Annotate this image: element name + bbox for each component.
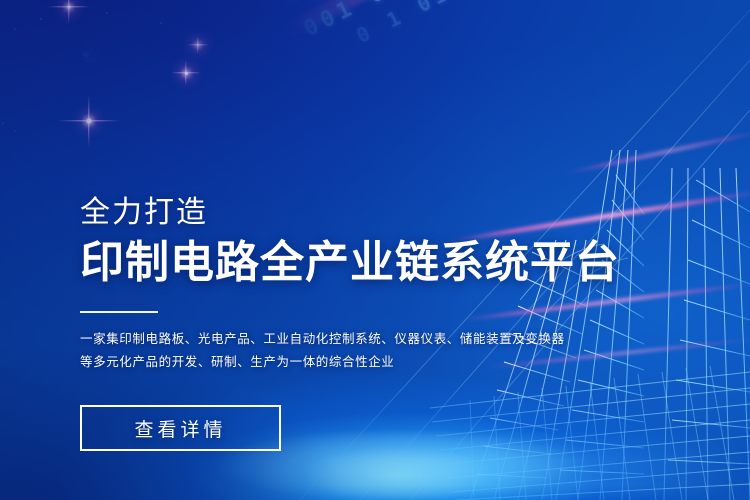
hero-content: 全力打造 印制电路全产业链系统平台 一家集印制电路板、光电产品、工业自动化控制系… xyxy=(80,0,640,500)
title-divider xyxy=(80,311,158,313)
view-details-button[interactable]: 查看详情 xyxy=(80,405,281,451)
hero-description: 一家集印制电路板、光电产品、工业自动化控制系统、仪器仪表、储能装置及变换器 等多… xyxy=(80,328,550,374)
star-sparkle-icon xyxy=(68,6,70,8)
hero-description-line-1: 一家集印制电路板、光电产品、工业自动化控制系统、仪器仪表、储能装置及变换器 xyxy=(80,328,550,351)
hero-description-line-2: 等多元化产品的开发、研制、生产为一体的综合性企业 xyxy=(80,351,550,374)
hero-eyebrow: 全力打造 xyxy=(80,196,208,230)
hero-banner: 01 001 01 0 1001 01 0 1 01 001 01 0 1 00… xyxy=(0,0,750,500)
page-title: 印制电路全产业链系统平台 xyxy=(80,236,620,290)
